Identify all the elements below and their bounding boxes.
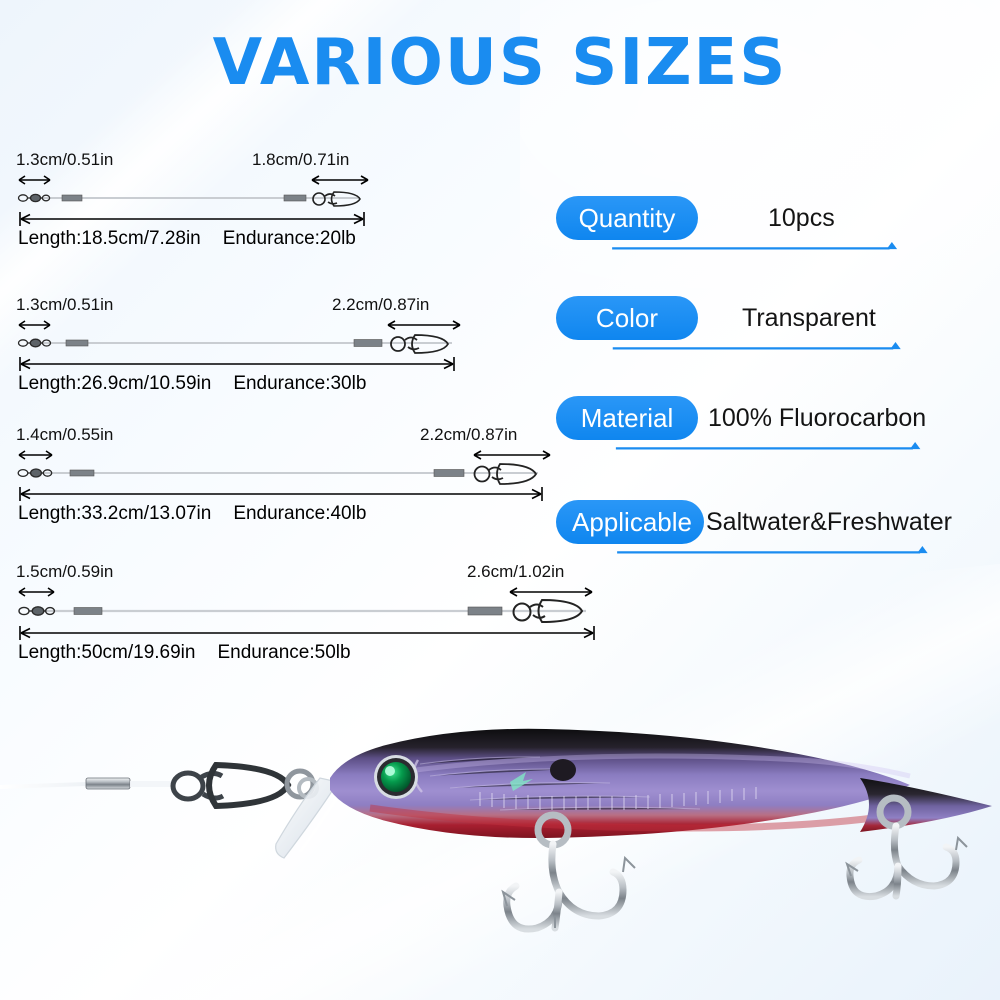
size-bottom-caption: Length:18.5cm/7.28inEndurance:20lb <box>18 228 356 250</box>
total-length-dimension <box>16 355 486 373</box>
spec-underline <box>564 546 989 555</box>
spec-row-material: Material 100% Fluorocarbon <box>556 396 976 454</box>
spec-label-quantity: Quantity <box>556 196 698 240</box>
size-right-measure-label: 1.8cm/0.71in <box>252 150 349 170</box>
size-bottom-caption: Length:33.2cm/13.07inEndurance:40lb <box>18 503 366 525</box>
size-left-measure-label: 1.4cm/0.55in <box>16 425 113 445</box>
size-left-measure-label: 1.3cm/0.51in <box>16 295 113 315</box>
product-photo-lure <box>0 660 1000 1000</box>
endurance-label: Endurance:40lb <box>233 503 366 524</box>
spec-value-color: Transparent <box>742 297 876 339</box>
spec-row-color: Color Transparent <box>556 296 951 354</box>
spec-underline <box>564 442 979 451</box>
snap-clip <box>209 765 288 806</box>
page-title: VARIOUS SIZES <box>0 28 1000 98</box>
endurance-label: Endurance:30lb <box>233 373 366 394</box>
total-length-dimension <box>16 624 636 642</box>
size-bottom-caption: Length:26.9cm/10.59inEndurance:30lb <box>18 373 366 395</box>
spec-label-material: Material <box>556 396 698 440</box>
size-left-measure-label: 1.5cm/0.59in <box>16 562 113 582</box>
leader-rig-diagram <box>16 584 636 628</box>
snap-swivel <box>173 773 223 799</box>
lure-eye <box>374 755 418 799</box>
leader-rig-diagram <box>16 447 576 489</box>
spec-underline <box>564 242 949 251</box>
size-left-measure-label: 1.3cm/0.51in <box>16 150 113 170</box>
length-label: Length:26.9cm/10.59in <box>18 373 211 394</box>
total-length-dimension <box>16 210 396 228</box>
spec-value-applicable: Saltwater&Freshwater <box>706 501 952 543</box>
infographic-canvas: VARIOUS SIZES 1.3cm/0.51in 1.8cm/0.71in <box>0 0 1000 1000</box>
endurance-label: Endurance:20lb <box>223 228 356 249</box>
spec-label-color: Color <box>556 296 698 340</box>
leader-rig-diagram <box>16 172 396 214</box>
length-label: Length:33.2cm/13.07in <box>18 503 211 524</box>
total-length-dimension <box>16 485 576 503</box>
leader-line <box>0 784 86 787</box>
size-right-measure-label: 2.2cm/0.87in <box>420 425 517 445</box>
size-right-measure-label: 2.6cm/1.02in <box>467 562 564 582</box>
spec-label-applicable: Applicable <box>556 500 704 544</box>
size-right-measure-label: 2.2cm/0.87in <box>332 295 429 315</box>
spec-underline <box>564 342 954 351</box>
spec-row-applicable: Applicable Saltwater&Freshwater <box>556 500 984 558</box>
spec-value-quantity: 10pcs <box>768 197 835 239</box>
leader-rig-diagram <box>16 317 486 359</box>
length-label: Length:18.5cm/7.28in <box>18 228 201 249</box>
body-dot <box>550 759 576 781</box>
spec-row-quantity: Quantity 10pcs <box>556 196 946 254</box>
crimp-sleeve <box>86 778 130 789</box>
spec-value-material: 100% Fluorocarbon <box>708 397 926 439</box>
